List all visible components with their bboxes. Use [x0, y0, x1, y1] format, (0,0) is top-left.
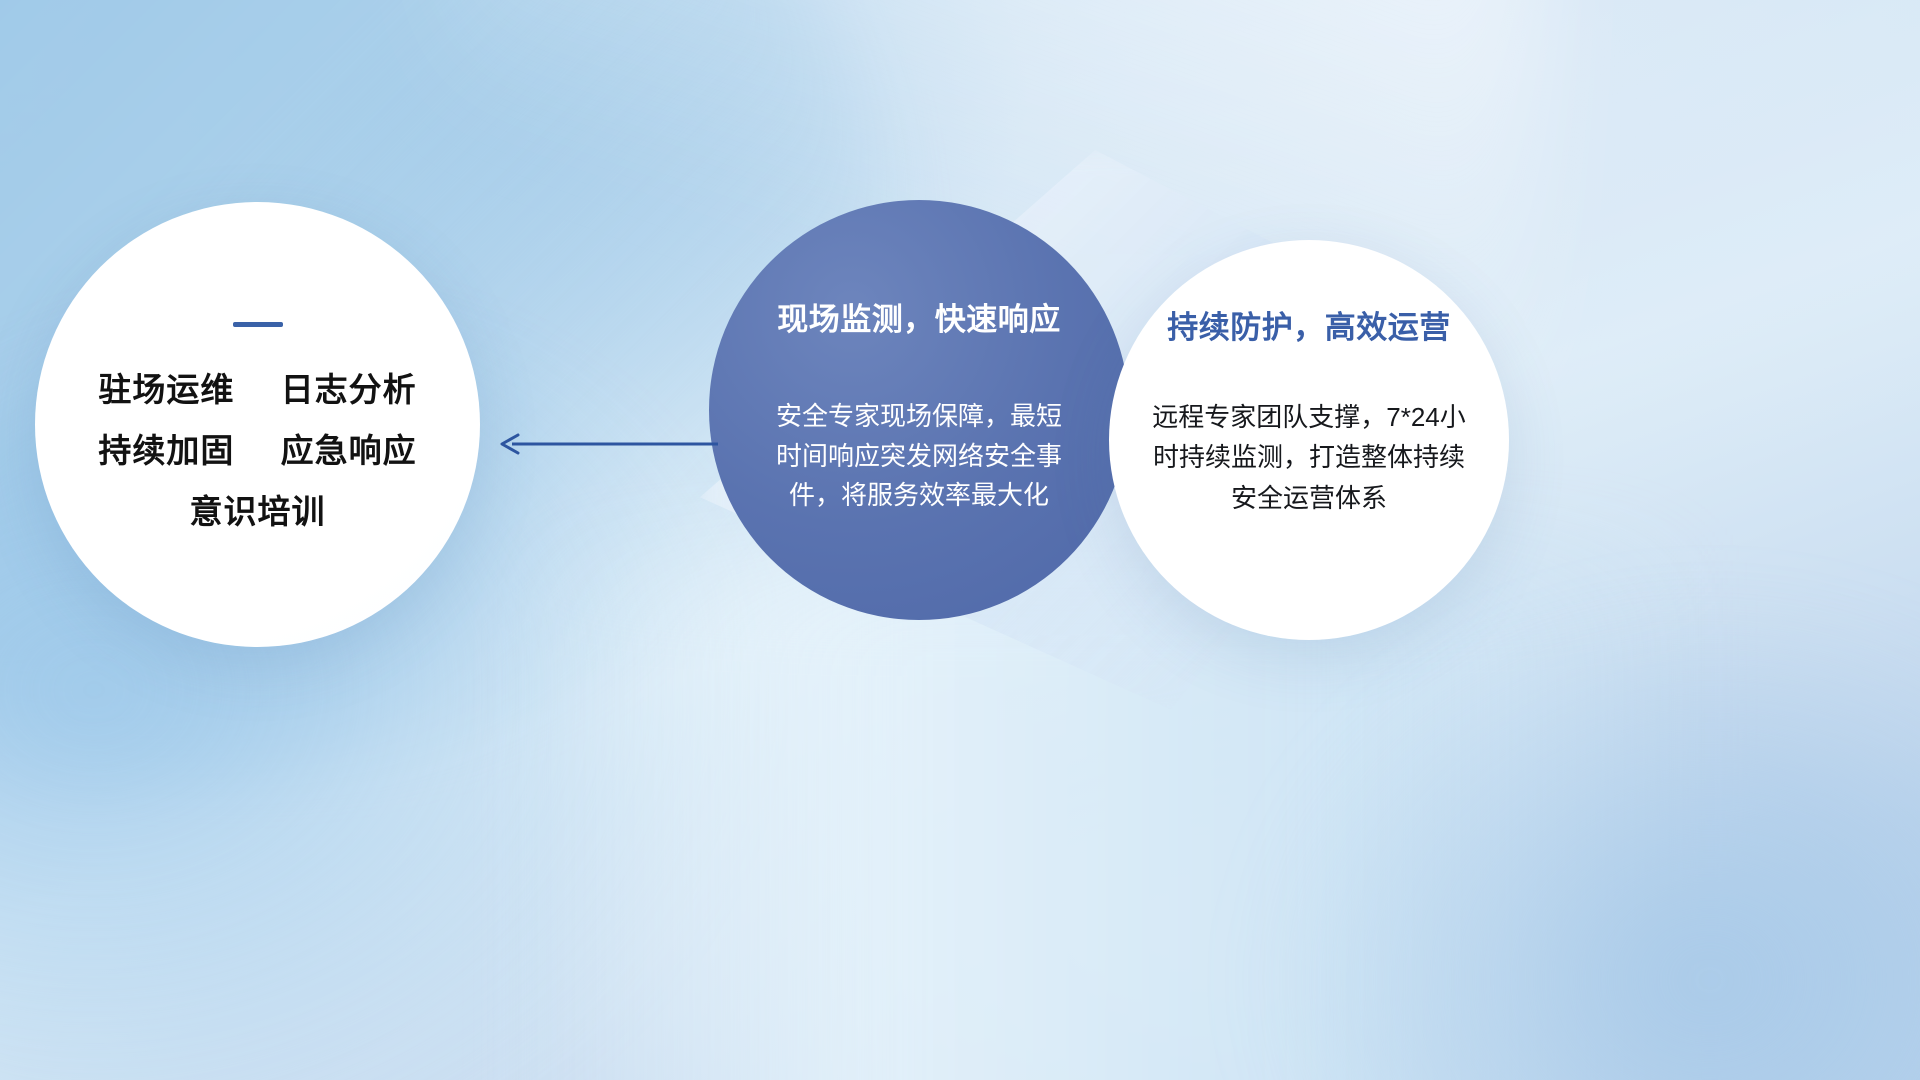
capability-label-emergency-response: 应急响应 [281, 432, 417, 469]
capability-label-awareness-training: 意识培训 [190, 493, 326, 530]
diagram-canvas: 驻场运维 日志分析 持续加固 应急响应 意识培训 现场监测，快速响应 安全专家现… [0, 0, 1920, 1080]
service-circle-continuous-protection[interactable]: 持续防护，高效运营 远程专家团队支撑，7*24小时持续监测，打造整体持续安全运营… [1109, 240, 1509, 640]
capability-label-log-analysis: 日志分析 [281, 371, 417, 408]
capability-circle-left[interactable]: 驻场运维 日志分析 持续加固 应急响应 意识培训 [35, 202, 480, 647]
service-circle-mid-body: 安全专家现场保障，最短时间响应突发网络安全事件，将服务效率最大化 [769, 397, 1069, 516]
left-arrow-icon [494, 424, 720, 464]
service-circle-mid-title: 现场监测，快速响应 [777, 294, 1061, 339]
service-circle-right-body: 远程专家团队支撑，7*24小时持续监测，打造整体持续安全运营体系 [1144, 397, 1474, 518]
service-circle-right-title: 持续防护，高效运营 [1167, 302, 1451, 347]
service-circle-onsite-monitoring[interactable]: 现场监测，快速响应 安全专家现场保障，最短时间响应突发网络安全事件，将服务效率最… [709, 200, 1129, 620]
capability-row-2: 持续加固 应急响应 [98, 434, 416, 467]
capability-label-onsite-ops: 驻场运维 [98, 371, 234, 408]
capability-row-3: 意识培训 [190, 495, 326, 528]
capability-label-continuous-hardening: 持续加固 [98, 432, 234, 469]
horizontal-dash-icon [233, 322, 283, 327]
capability-row-1: 驻场运维 日志分析 [98, 373, 416, 406]
